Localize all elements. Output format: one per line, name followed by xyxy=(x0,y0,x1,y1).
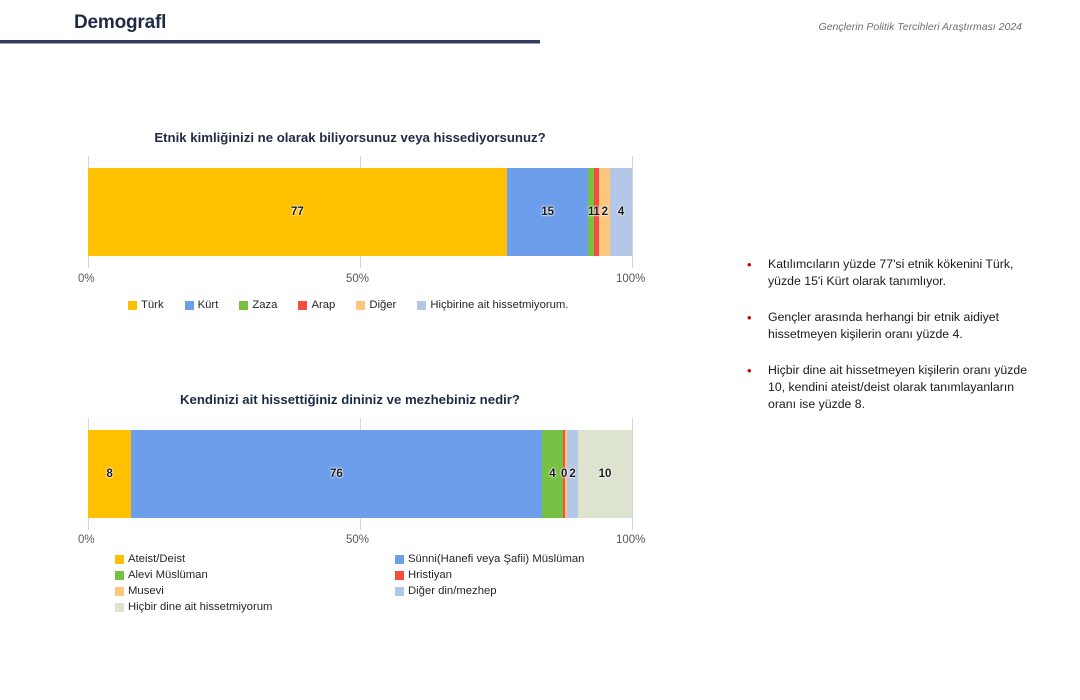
legend-label: Türk xyxy=(141,299,164,311)
legend-item[interactable]: Zaza xyxy=(239,299,277,311)
plot-area: 87640210 xyxy=(88,430,632,518)
legend-swatch xyxy=(115,587,124,596)
legend-label: Hiçbirine ait hissetmiyorum. xyxy=(430,299,568,311)
legend-swatch xyxy=(356,301,365,310)
legend-swatch xyxy=(298,301,307,310)
bullet-dot-icon: • xyxy=(742,309,768,343)
bar-segment[interactable]: 4 xyxy=(610,168,632,256)
bullet-text: Gençler arasında herhangi bir etnik aidi… xyxy=(768,309,1032,343)
legend-swatch xyxy=(115,571,124,580)
bar-segment[interactable]: 15 xyxy=(507,168,589,256)
bar-segment-value: 1 xyxy=(593,206,599,218)
legend-item[interactable]: Kürt xyxy=(185,299,219,311)
bar-segment[interactable]: 77 xyxy=(88,168,507,256)
stacked-bar[interactable]: 77151124 xyxy=(88,168,632,256)
bar-segment-value: 0 xyxy=(561,468,567,480)
bullet-text: Hiçbir dine ait hissetmeyen kişilerin or… xyxy=(768,362,1032,413)
bar-segment[interactable]: 10 xyxy=(578,430,632,518)
legend-item[interactable]: Hiçbir dine ait hissetmiyorum xyxy=(115,601,395,613)
slide: Demografl Gençlerin Politik Tercihleri A… xyxy=(0,0,1080,700)
bar-segment[interactable]: 2 xyxy=(599,168,610,256)
bullet-dot-icon: • xyxy=(742,256,768,290)
bar-segment-value: 15 xyxy=(541,206,554,218)
legend-swatch xyxy=(239,301,248,310)
bullet-dot-icon: • xyxy=(742,362,768,413)
legend-label: Diğer xyxy=(369,299,396,311)
legend-label: Diğer din/mezhep xyxy=(408,585,497,597)
gridline-100 xyxy=(632,156,633,268)
legend-label: Sünni(Hanefi veya Şafii) Müslüman xyxy=(408,553,584,565)
chart-title: Etnik kimliğinizi ne olarak biliyorsunuz… xyxy=(0,130,700,145)
chart-legend: Ateist/DeistSünni(Hanefi veya Şafii) Müs… xyxy=(115,553,675,617)
x-axis-tick-0: 0% xyxy=(78,273,95,285)
x-axis-tick-100: 100% xyxy=(616,534,645,546)
bullet-text: Katılımcıların yüzde 77'si etnik kökenin… xyxy=(768,256,1032,290)
chart-title: Kendinizi ait hissettiğiniz dininiz ve m… xyxy=(0,392,700,407)
legend-swatch xyxy=(395,555,404,564)
x-axis-tick-0: 0% xyxy=(78,534,95,546)
legend-label: Zaza xyxy=(252,299,277,311)
legend-item[interactable]: Türk xyxy=(128,299,164,311)
list-item: •Gençler arasında herhangi bir etnik aid… xyxy=(742,309,1032,343)
legend-swatch xyxy=(115,603,124,612)
x-axis-tick-100: 100% xyxy=(616,273,645,285)
legend-label: Hristiyan xyxy=(408,569,452,581)
legend-swatch xyxy=(395,571,404,580)
gridline-100 xyxy=(632,418,633,530)
legend-label: Kürt xyxy=(198,299,219,311)
bar-segment[interactable]: 2 xyxy=(567,430,578,518)
bar-segment-value: 77 xyxy=(291,206,304,218)
bar-segment-value: 10 xyxy=(599,468,612,480)
legend-item[interactable]: Hristiyan xyxy=(395,569,675,581)
legend-item[interactable]: Hiçbirine ait hissetmiyorum. xyxy=(417,299,568,311)
legend-item[interactable]: Arap xyxy=(298,299,335,311)
chart-legend: TürkKürtZazaArapDiğerHiçbirine ait hisse… xyxy=(128,299,668,311)
legend-item[interactable]: Alevi Müslüman xyxy=(115,569,395,581)
stacked-bar[interactable]: 87640210 xyxy=(88,430,632,518)
bar-segment-value: 76 xyxy=(330,468,343,480)
legend-item[interactable]: Sünni(Hanefi veya Şafii) Müslüman xyxy=(395,553,675,565)
legend-swatch xyxy=(185,301,194,310)
legend-label: Musevi xyxy=(128,585,164,597)
legend-swatch xyxy=(128,301,137,310)
bar-segment[interactable]: 76 xyxy=(131,430,541,518)
bar-segment-value: 4 xyxy=(618,206,624,218)
insights-list: •Katılımcıların yüzde 77'si etnik kökeni… xyxy=(742,256,1032,432)
x-axis-tick-50: 50% xyxy=(346,273,369,285)
x-axis-tick-50: 50% xyxy=(346,534,369,546)
legend-item[interactable]: Diğer xyxy=(356,299,396,311)
legend-item[interactable]: Ateist/Deist xyxy=(115,553,395,565)
bar-segment-value: 8 xyxy=(106,468,112,480)
legend-swatch xyxy=(115,555,124,564)
bar-segment-value: 2 xyxy=(569,468,575,480)
bar-segment[interactable]: 8 xyxy=(88,430,131,518)
bar-segment[interactable]: 4 xyxy=(542,430,564,518)
header-rule xyxy=(0,40,540,43)
list-item: •Katılımcıların yüzde 77'si etnik kökeni… xyxy=(742,256,1032,290)
page-title: Demografl xyxy=(74,12,166,34)
plot-area: 77151124 xyxy=(88,168,632,256)
bar-segment-value: 2 xyxy=(602,206,608,218)
legend-label: Arap xyxy=(311,299,335,311)
list-item: •Hiçbir dine ait hissetmeyen kişilerin o… xyxy=(742,362,1032,413)
legend-swatch xyxy=(395,587,404,596)
legend-item[interactable]: Diğer din/mezhep xyxy=(395,585,675,597)
legend-label: Ateist/Deist xyxy=(128,553,185,565)
legend-swatch xyxy=(417,301,426,310)
bar-segment-value: 4 xyxy=(549,468,555,480)
header-subtitle: Gençlerin Politik Tercihleri Araştırması… xyxy=(819,21,1022,33)
legend-label: Alevi Müslüman xyxy=(128,569,208,581)
legend-item[interactable]: Musevi xyxy=(115,585,395,597)
legend-label: Hiçbir dine ait hissetmiyorum xyxy=(128,601,272,613)
